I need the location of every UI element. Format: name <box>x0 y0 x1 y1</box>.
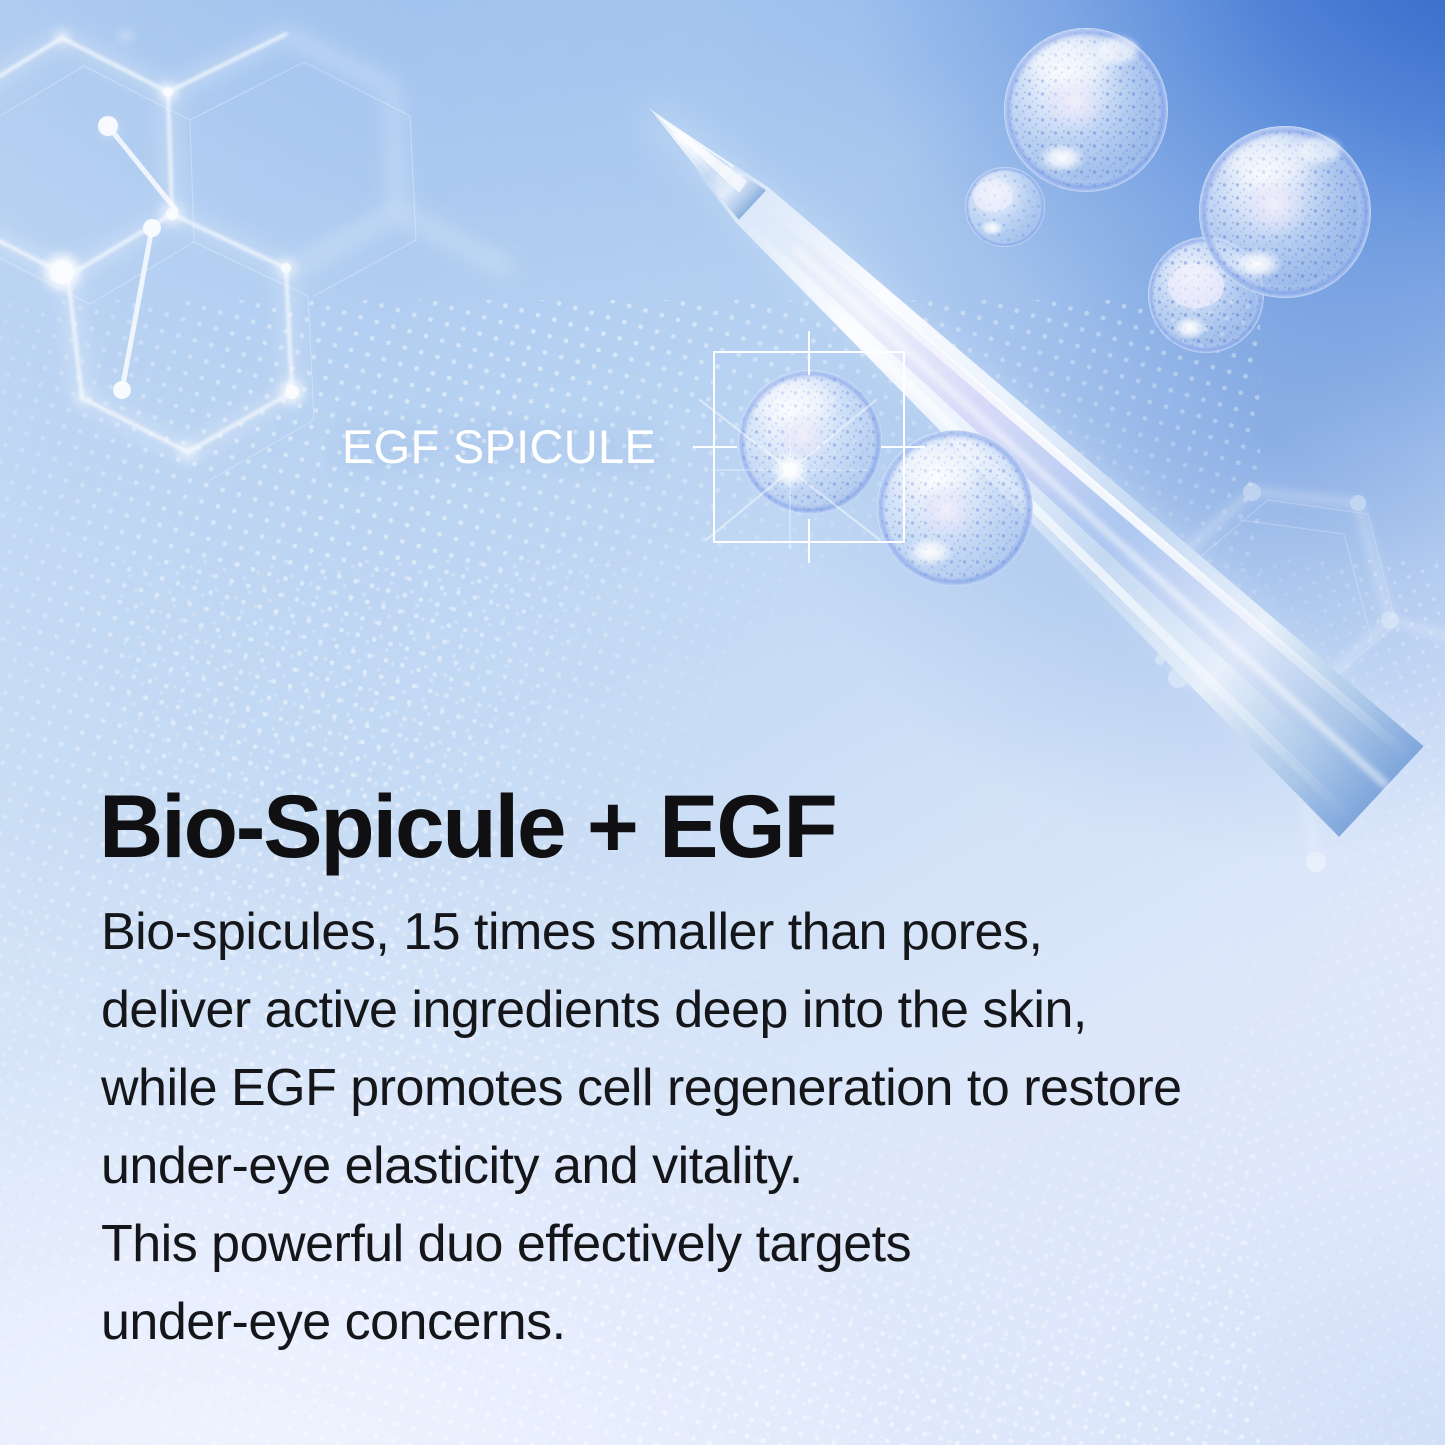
body-line: deliver active ingredients deep into the… <box>101 971 1361 1049</box>
frame-tick-right <box>881 446 925 449</box>
body-line: under-eye elasticity and vitality. <box>101 1127 1361 1205</box>
frame-tick-left <box>693 446 737 449</box>
body-copy: Bio-spicules, 15 times smaller than pore… <box>101 893 1361 1361</box>
body-line: under-eye concerns. <box>101 1283 1361 1361</box>
body-line: while EGF promotes cell regeneration to … <box>101 1049 1361 1127</box>
spicule-focus-frame <box>713 351 905 543</box>
body-line: Bio-spicules, 15 times smaller than pore… <box>101 893 1361 971</box>
body-line: This powerful duo effectively targets <box>101 1205 1361 1283</box>
frame-tick-top <box>808 331 811 375</box>
page-title: Bio-Spicule + EGF <box>99 782 836 871</box>
slide-canvas: EGF SPICULE Bio-Spicule + EGF Bio-spicul… <box>0 0 1445 1445</box>
frame-tick-bottom <box>808 519 811 563</box>
callout-label-egf-spicule: EGF SPICULE <box>342 423 656 470</box>
